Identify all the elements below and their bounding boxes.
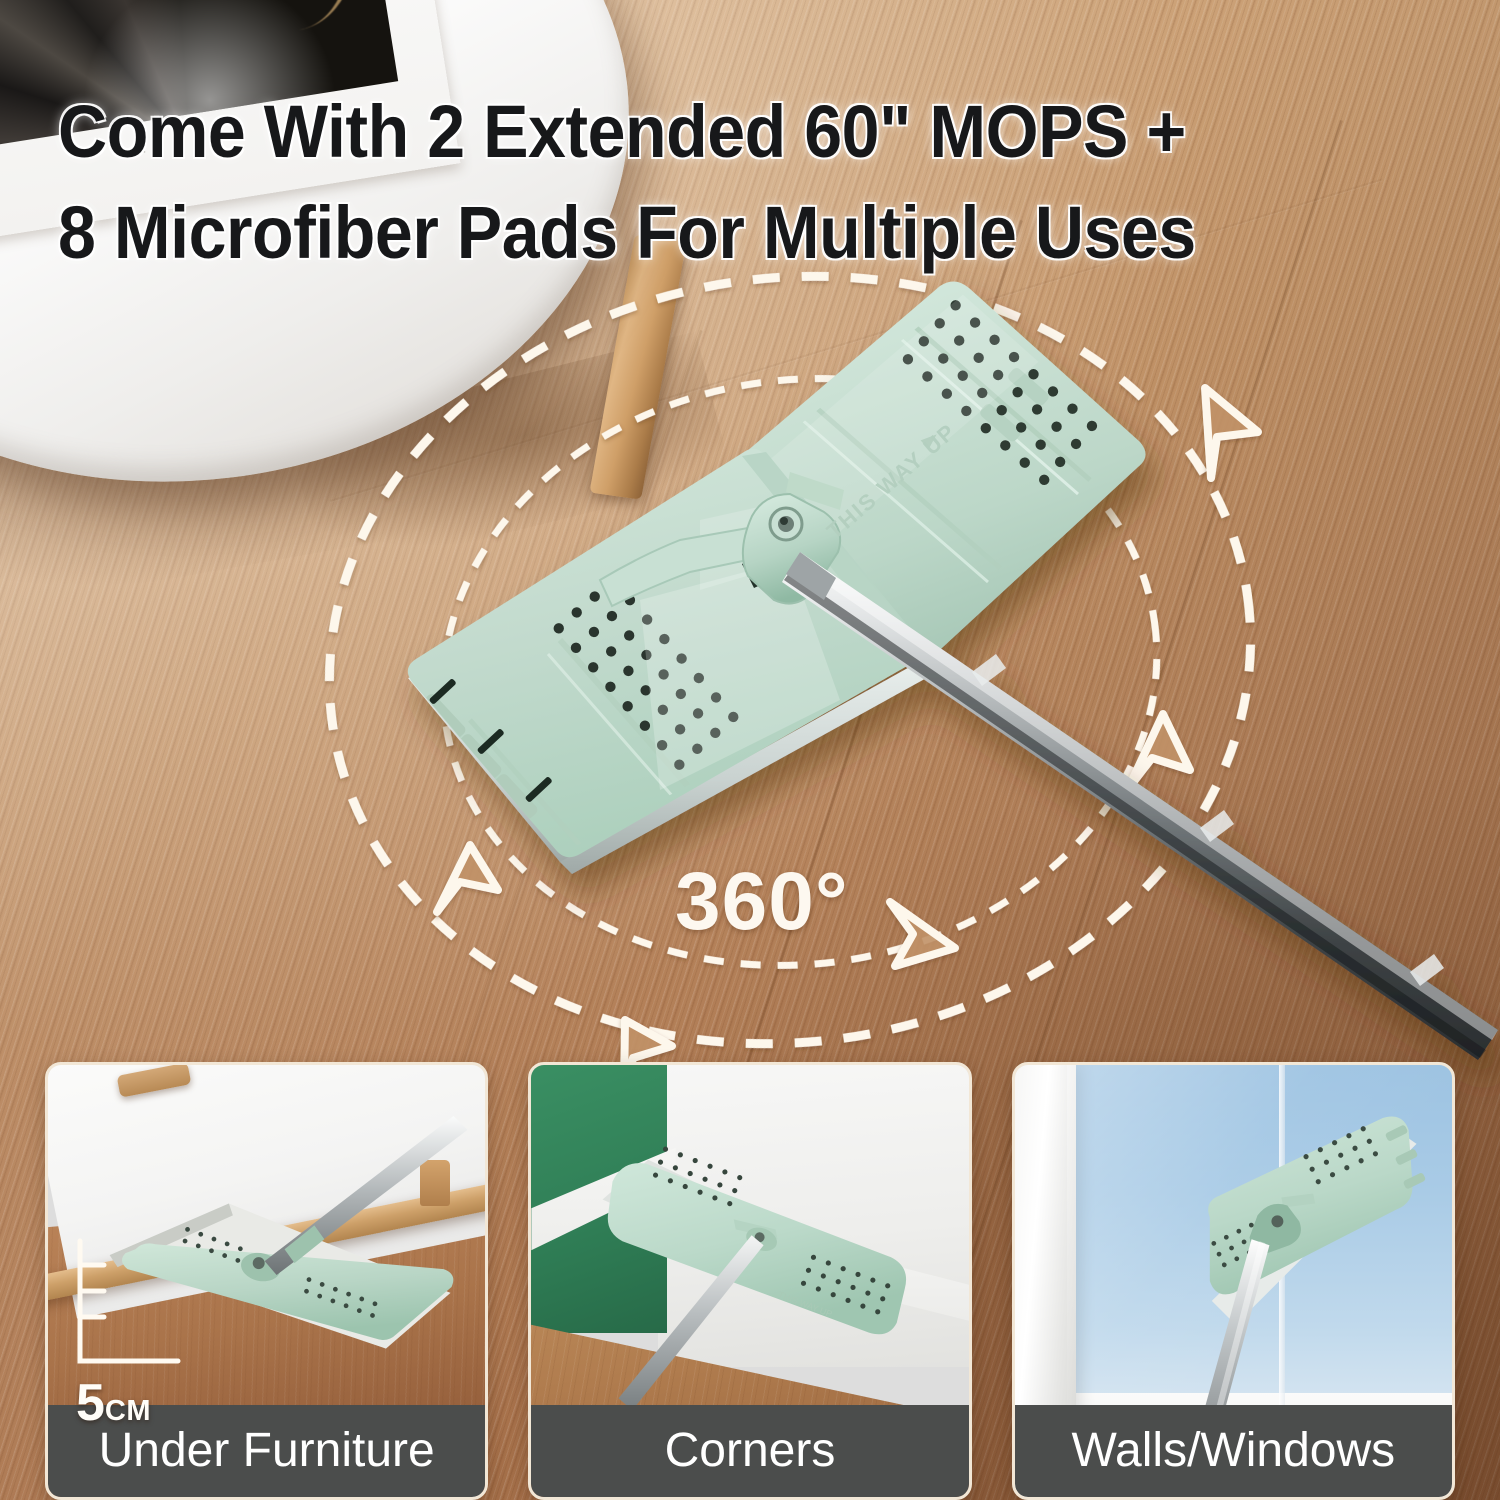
rotation-degree-label: 360° xyxy=(675,855,849,949)
measurement-value: 5 xyxy=(76,1374,105,1432)
use-case-panels: 5CM Under Furniture xyxy=(0,1062,1500,1500)
panel3-mop-plate xyxy=(1208,1117,1412,1295)
measurement-ruler-icon xyxy=(70,1235,200,1375)
panel-corners[interactable]: THIS WAY UP Corners xyxy=(528,1062,971,1500)
panel-caption-bar: Corners xyxy=(531,1405,968,1497)
mop-pivot-pin-hole xyxy=(780,517,788,525)
page-title: Come With 2 Extended 60" MOPS + 8 Microf… xyxy=(58,82,1346,283)
panel-caption-label: Corners xyxy=(665,1427,836,1475)
product-feature-image: ▪ ▪ ▪ ▪ ▪ Come With 2 Extended 60" MOPS … xyxy=(0,0,1500,1500)
measurement-label: 5CM xyxy=(76,1377,151,1429)
panel-caption-bar: Walls/Windows xyxy=(1015,1405,1452,1497)
panel-caption-label: Walls/Windows xyxy=(1072,1427,1396,1475)
panel-caption-label: Under Furniture xyxy=(99,1427,435,1475)
mop-handle xyxy=(782,552,1498,1060)
panel-walls-windows[interactable]: Walls/Windows xyxy=(1012,1062,1455,1500)
measurement-unit: CM xyxy=(105,1395,151,1427)
panel-under-furniture[interactable]: 5CM Under Furniture xyxy=(45,1062,488,1500)
